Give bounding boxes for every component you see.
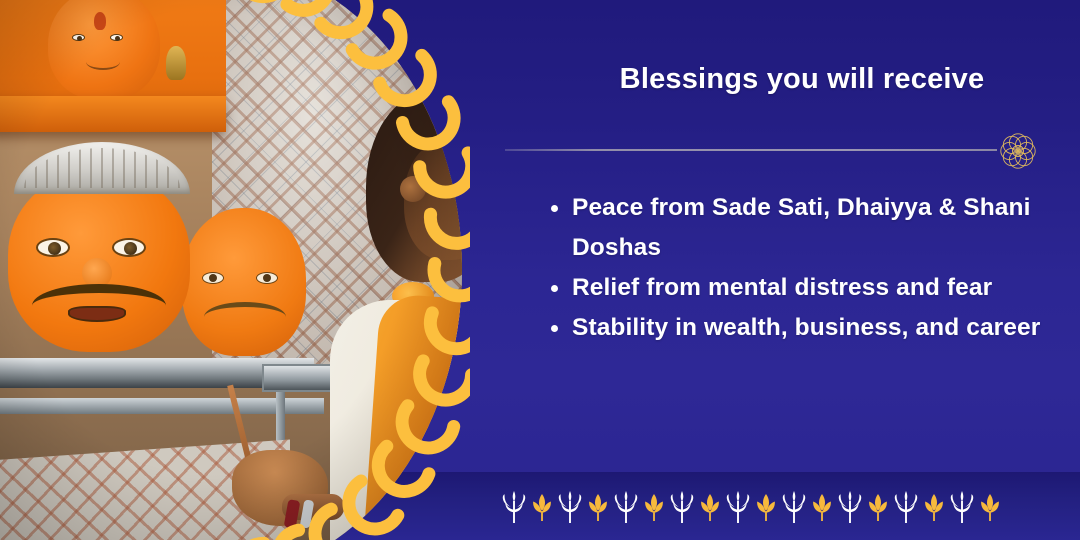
trident-prong xyxy=(629,494,637,507)
trident-prong xyxy=(615,494,623,507)
trident-prong xyxy=(737,491,740,502)
trident-prong xyxy=(965,494,973,507)
trident-prong xyxy=(793,501,795,523)
trident-prong xyxy=(569,491,572,502)
trident-prong xyxy=(709,511,711,521)
trident-white-icon xyxy=(836,488,864,526)
trident-white-icon xyxy=(780,488,808,526)
trident-prong xyxy=(849,501,851,523)
trident-prong xyxy=(853,494,861,507)
divider xyxy=(505,142,1045,158)
trident-gold-icon xyxy=(696,488,724,526)
trident-prong xyxy=(597,511,599,521)
list-item: Relief from mental distress and fear xyxy=(544,268,1060,308)
trident-prong xyxy=(625,501,627,523)
trident-prong xyxy=(821,511,823,521)
trident-prong xyxy=(685,494,693,507)
photo-arch-mask xyxy=(0,0,462,540)
trident-prong xyxy=(671,494,679,507)
trident-prong xyxy=(961,501,963,523)
photo-vignette xyxy=(0,0,462,540)
trident-prong xyxy=(681,491,684,502)
content-panel: Blessings you will receive Peace from Sa… xyxy=(500,0,1080,540)
trident-prong xyxy=(681,501,683,523)
trident-prong xyxy=(737,501,739,523)
list-item-label: Peace from Sade Sati, Dhaiyya & Shani Do… xyxy=(572,194,1031,261)
list-item: Stability in wealth, business, and caree… xyxy=(544,308,1060,348)
trident-gold-icon xyxy=(752,488,780,526)
trident-prong xyxy=(849,491,852,502)
trident-prong xyxy=(503,494,511,507)
trident-prong xyxy=(961,491,964,502)
trident-prong xyxy=(625,491,628,502)
trident-white-icon xyxy=(556,488,584,526)
trident-prong xyxy=(727,494,735,507)
mandala-petal-circle xyxy=(1015,136,1032,153)
blessings-list: Peace from Sade Sati, Dhaiyya & Shani Do… xyxy=(544,188,1060,348)
trident-white-icon xyxy=(724,488,752,526)
trident-prong xyxy=(513,501,515,523)
trident-prong xyxy=(905,501,907,523)
trident-gold-icon xyxy=(528,488,556,526)
bullet-dot-icon xyxy=(551,205,558,212)
trident-prong xyxy=(783,494,791,507)
temple-photo-panel xyxy=(0,0,470,540)
trident-prong xyxy=(793,491,796,502)
trident-prong xyxy=(877,511,879,521)
trident-gold-icon xyxy=(584,488,612,526)
trident-white-icon xyxy=(948,488,976,526)
trident-gold-icon xyxy=(808,488,836,526)
list-item-label: Relief from mental distress and fear xyxy=(572,274,992,301)
trident-gold-icon xyxy=(640,488,668,526)
temple-photo xyxy=(0,0,462,540)
trident-prong xyxy=(513,491,516,502)
list-item-label: Stability in wealth, business, and caree… xyxy=(572,314,1040,341)
divider-line xyxy=(505,149,997,151)
page-title: Blessings you will receive xyxy=(552,63,1052,96)
trident-white-icon xyxy=(612,488,640,526)
trident-gold-icon xyxy=(864,488,892,526)
trident-white-icon xyxy=(668,488,696,526)
trident-prong xyxy=(933,511,935,521)
lotus-mandala-ornament xyxy=(995,128,1041,174)
trident-prong xyxy=(517,494,525,507)
trident-prong xyxy=(895,494,903,507)
trident-prong xyxy=(569,501,571,523)
trident-white-icon xyxy=(500,488,528,526)
trident-prong xyxy=(573,494,581,507)
trident-prong xyxy=(765,511,767,521)
trident-prong xyxy=(905,491,908,502)
list-item: Peace from Sade Sati, Dhaiyya & Shani Do… xyxy=(544,188,1060,268)
bullet-dot-icon xyxy=(551,325,558,332)
trident-gold-icon xyxy=(976,488,1004,526)
slide-root: Blessings you will receive Peace from Sa… xyxy=(0,0,1080,540)
trident-decorative-row xyxy=(500,486,1015,528)
bullet-dot-icon xyxy=(551,285,558,292)
trident-prong xyxy=(741,494,749,507)
trident-prong xyxy=(653,511,655,521)
trident-prong xyxy=(559,494,567,507)
trident-prong xyxy=(951,494,959,507)
trident-prong xyxy=(797,494,805,507)
trident-prong xyxy=(541,511,543,521)
trident-prong xyxy=(909,494,917,507)
trident-prong xyxy=(839,494,847,507)
trident-prong xyxy=(989,511,991,521)
trident-white-icon xyxy=(892,488,920,526)
trident-gold-icon xyxy=(920,488,948,526)
